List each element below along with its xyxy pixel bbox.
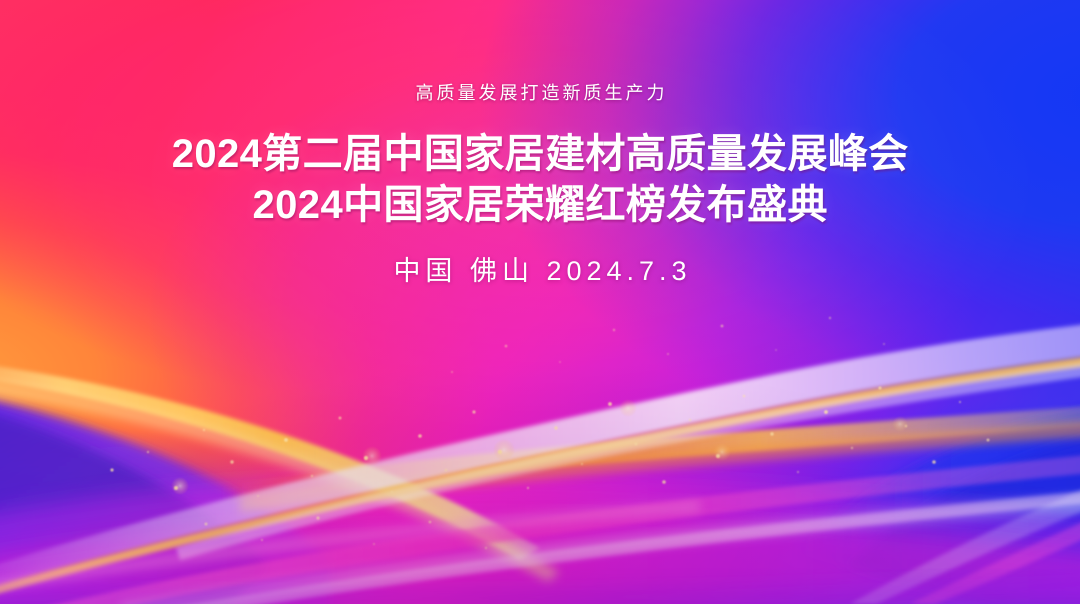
page-title: 2024第二届中国家居建材高质量发展峰会 2024中国家居荣耀红榜发布盛典 [0,129,1080,231]
title-line-1: 2024第二届中国家居建材高质量发展峰会 [172,132,909,176]
event-location-date: 中国 佛山 2024.7.3 [0,258,1080,285]
event-kicker: 高质量发展打造新质生产力 [0,84,1080,102]
title-line-2: 2024中国家居荣耀红榜发布盛典 [0,180,1080,231]
poster-stage: 高质量发展打造新质生产力 2024第二届中国家居建材高质量发展峰会 2024中国… [0,0,1080,604]
headline-block: 高质量发展打造新质生产力 2024第二届中国家居建材高质量发展峰会 2024中国… [0,84,1080,285]
